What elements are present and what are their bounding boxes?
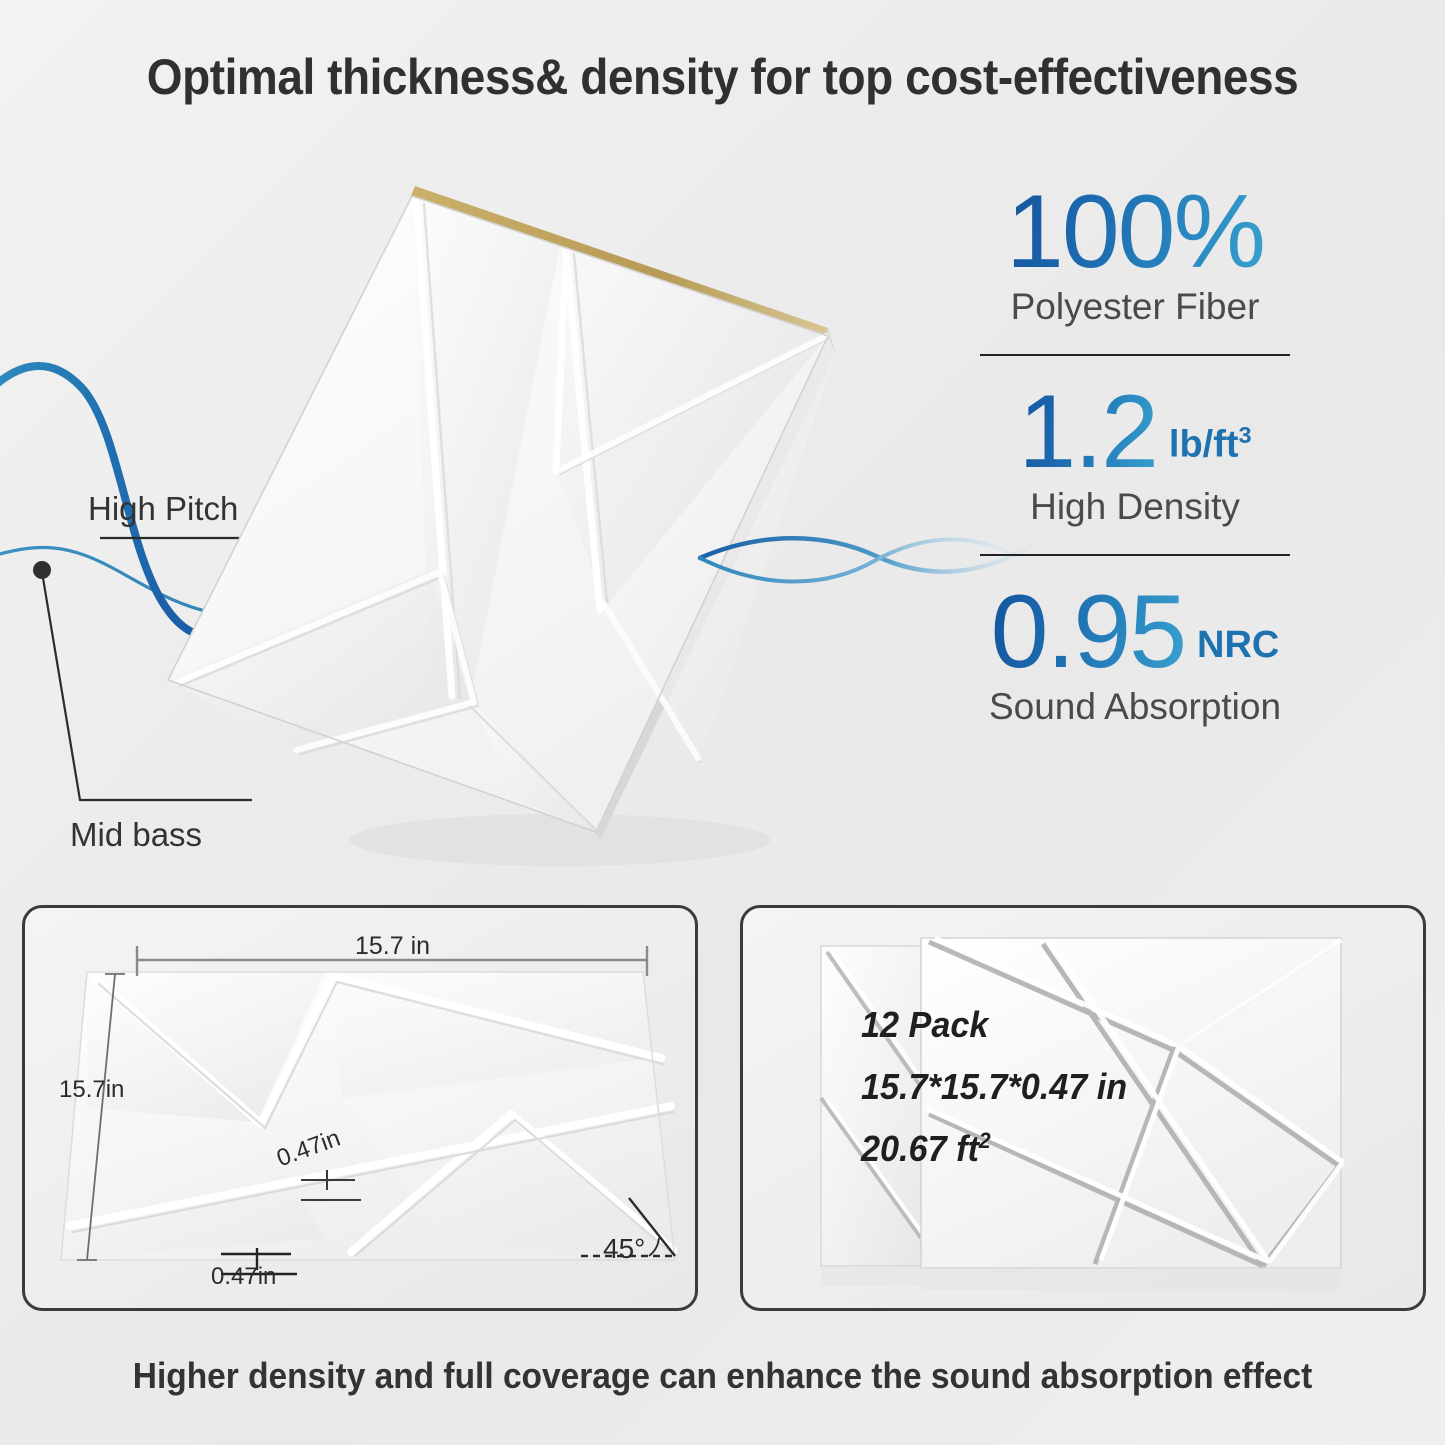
pack-panel: 12 Pack 15.7*15.7*0.47 in 20.67 ft2 (740, 905, 1426, 1311)
spec-caption-polyester: Polyester Fiber (935, 286, 1335, 328)
spec-unit-density-text: lb/ft (1169, 424, 1239, 466)
infographic-root: Optimal thickness& density for top cost-… (0, 0, 1445, 1445)
spec-divider-1 (980, 354, 1290, 356)
spec-value-polyester: 100% (1006, 180, 1264, 284)
spec-block-polyester: 100% Polyester Fiber (935, 180, 1335, 328)
dimension-label-thickness: 0.47in (211, 1263, 276, 1291)
dimension-panel: 15.7 in 15.7in 0.47in 0.47in 45° (22, 905, 698, 1311)
pack-line-count: 12 Pack (861, 994, 1127, 1056)
spec-value-density: 1.2 (1018, 380, 1157, 484)
mid-bass-marker-dot (33, 561, 51, 579)
wave-label-high-pitch: High Pitch (88, 490, 238, 528)
spec-block-nrc: 0.95 NRC Sound Absorption (935, 580, 1335, 728)
spec-unit-nrc: NRC (1197, 626, 1279, 664)
dimension-diagram (25, 908, 695, 1308)
spec-divider-2 (980, 554, 1290, 556)
spec-block-density: 1.2 lb/ft3 High Density (935, 380, 1335, 528)
spec-caption-density: High Density (935, 486, 1335, 528)
pack-area-exponent: 2 (979, 1128, 991, 1153)
dimension-label-height: 15.7in (59, 1076, 124, 1104)
footer-caption: Higher density and full coverage can enh… (51, 1355, 1395, 1397)
spec-unit-density: lb/ft3 (1169, 424, 1252, 464)
spec-caption-nrc: Sound Absorption (935, 686, 1335, 728)
pack-info-text: 12 Pack 15.7*15.7*0.47 in 20.67 ft2 (861, 994, 1127, 1180)
spec-list: 100% Polyester Fiber 1.2 lb/ft3 High Den… (935, 180, 1335, 728)
pack-area-value: 20.67 ft (861, 1128, 979, 1169)
dimension-label-angle: 45° (603, 1233, 645, 1265)
dimension-label-width: 15.7 in (355, 932, 430, 961)
spec-unit-density-exponent: 3 (1239, 422, 1252, 448)
wave-label-mid-bass: Mid bass (70, 816, 202, 854)
page-title: Optimal thickness& density for top cost-… (58, 48, 1387, 106)
acoustic-panel-3d (168, 186, 836, 866)
pack-line-area: 20.67 ft2 (861, 1118, 1127, 1180)
pack-line-dimensions: 15.7*15.7*0.47 in (861, 1056, 1127, 1118)
spec-value-nrc: 0.95 (991, 580, 1185, 684)
